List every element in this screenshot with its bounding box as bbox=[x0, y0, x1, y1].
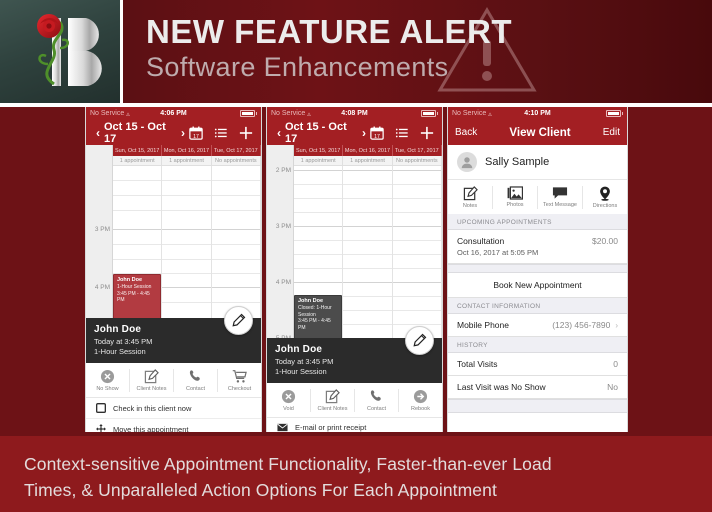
action-label: Rebook bbox=[411, 406, 430, 412]
photos-icon bbox=[507, 186, 523, 200]
client-actions: Notes Photos Text Message bbox=[448, 180, 627, 214]
hour-label: 3 PM bbox=[95, 226, 110, 233]
shopping-cart-icon bbox=[232, 369, 247, 384]
back-button[interactable]: Back bbox=[455, 127, 477, 138]
calendar-body[interactable]: 2 PM 3 PM 4 PM 5 PM bbox=[267, 166, 442, 338]
history-row: Total Visits 0 bbox=[448, 353, 627, 376]
appointment-name: John Doe bbox=[298, 298, 338, 305]
history-label: Total Visits bbox=[457, 359, 497, 369]
day-header: Sun, Oct 15, 2017 bbox=[294, 145, 343, 156]
appointment-price: $20.00 bbox=[592, 236, 618, 246]
upcoming-appointment-row[interactable]: Consultation Oct 16, 2017 at 5:05 PM $20… bbox=[448, 230, 627, 264]
phone-handset-icon bbox=[188, 369, 203, 384]
calendar-grid-2: Sun, Oct 15, 2017 Mon, Oct 16, 2017 Tue,… bbox=[267, 145, 442, 338]
calendar-column[interactable]: John Doe 1-Hour Session 3:45 PM - 4:45 P… bbox=[113, 166, 162, 318]
section-history: HISTORY bbox=[448, 337, 627, 353]
day-header: Mon, Oct 16, 2017 bbox=[343, 145, 392, 156]
appointment-name: John Doe bbox=[117, 277, 157, 284]
rose-b-logo-icon bbox=[24, 6, 116, 98]
hour-label: 3 PM bbox=[276, 223, 291, 230]
no-show-x-circle-icon bbox=[100, 369, 115, 384]
section-spacer bbox=[448, 264, 627, 273]
appointment-time: 3:45 PM - 4:45 PM bbox=[298, 318, 338, 331]
day-header: Tue, Oct 17, 2017 bbox=[393, 145, 442, 156]
calendar-day-headers: Sun, Oct 15, 2017 Mon, Oct 16, 2017 Tue,… bbox=[86, 145, 261, 156]
detail-session: 1-Hour Session bbox=[94, 347, 253, 356]
svg-text:17: 17 bbox=[374, 133, 380, 139]
list-icon[interactable] bbox=[214, 126, 228, 140]
action-label: Contact bbox=[367, 406, 386, 412]
hour-gutter: 2 PM 3 PM 4 PM 5 PM bbox=[267, 166, 294, 338]
svg-text:17: 17 bbox=[193, 133, 199, 139]
plus-icon[interactable] bbox=[420, 126, 434, 140]
action-client-notes[interactable]: Client Notes bbox=[130, 369, 174, 392]
edit-appointment-button[interactable] bbox=[405, 326, 434, 355]
map-pin-icon bbox=[598, 186, 612, 201]
calendar-day-headers: Sun, Oct 15, 2017 Mon, Oct 16, 2017 Tue,… bbox=[267, 145, 442, 156]
action-label: Void bbox=[283, 406, 294, 412]
calendar-icon[interactable]: 17 bbox=[189, 126, 203, 140]
pencil-edit-icon bbox=[231, 313, 246, 328]
calendar-day-counts: 1 appointment 1 appointment No appointme… bbox=[86, 156, 261, 166]
action-text-message[interactable]: Text Message bbox=[538, 186, 583, 209]
action-no-show[interactable]: No Show bbox=[86, 369, 130, 392]
next-week-icon[interactable]: › bbox=[177, 126, 189, 140]
client-notes-icon bbox=[144, 369, 159, 384]
header-text-block: NEW FEATURE ALERT Software Enhancements bbox=[146, 13, 512, 84]
prev-week-icon[interactable]: ‹ bbox=[92, 126, 104, 140]
envelope-icon bbox=[277, 423, 288, 432]
detail-when: Today at 3:45 PM bbox=[94, 337, 253, 346]
status-bar-1: No Service ▵ 4:06 PM bbox=[86, 107, 261, 120]
option-check-in[interactable]: Check in this client now bbox=[86, 398, 261, 419]
action-label: Client Notes bbox=[318, 406, 348, 412]
appointment-datetime: Oct 16, 2017 at 5:05 PM bbox=[457, 248, 538, 257]
edit-appointment-button[interactable] bbox=[224, 306, 253, 335]
appointment-title: Consultation bbox=[457, 236, 538, 246]
day-header: Mon, Oct 16, 2017 bbox=[162, 145, 211, 156]
footer-line-2: Times, & Unparalleled Action Options For… bbox=[24, 477, 688, 503]
client-name: Sally Sample bbox=[485, 156, 549, 168]
status-bar-2: No Service ▵ 4:08 PM bbox=[267, 107, 442, 120]
history-value: 0 bbox=[613, 359, 618, 369]
detail-when: Today at 3:45 PM bbox=[275, 357, 434, 366]
page-title: View Client bbox=[509, 127, 570, 139]
next-week-icon[interactable]: › bbox=[358, 126, 370, 140]
rebook-arrow-icon bbox=[413, 389, 428, 404]
hour-label: 4 PM bbox=[276, 279, 291, 286]
section-spacer bbox=[448, 399, 627, 413]
calendar-navbar-1: ‹ Oct 15 - Oct 17 › 17 bbox=[86, 120, 261, 145]
header-subtitle: Software Enhancements bbox=[146, 51, 512, 84]
calendar-column[interactable] bbox=[212, 166, 261, 318]
battery-icon bbox=[421, 110, 438, 117]
screenshots-stage: No Service ▵ 4:06 PM ‹ Oct 15 - Oct 17 › bbox=[0, 107, 712, 432]
action-label: Photos bbox=[506, 202, 523, 208]
section-contact-information: CONTACT INFORMATION bbox=[448, 298, 627, 314]
appointment-time: 3:45 PM - 4:45 PM bbox=[117, 291, 157, 304]
footer-divider bbox=[0, 432, 712, 436]
options-list-1: Check in this client now Move this appoi… bbox=[86, 397, 261, 432]
day-header: Sun, Oct 15, 2017 bbox=[113, 145, 162, 156]
void-x-circle-icon bbox=[281, 389, 296, 404]
appointment-detail-header-2: John Doe Today at 3:45 PM 1-Hour Session bbox=[267, 338, 442, 383]
hour-label: 2 PM bbox=[276, 167, 291, 174]
hour-label: 4 PM bbox=[95, 284, 110, 291]
phone-screenshot-2: No Service ▵ 4:08 PM ‹ Oct 15 - Oct 17 › bbox=[266, 107, 443, 432]
footer-line-1: Context-sensitive Appointment Functional… bbox=[24, 451, 688, 477]
calendar-column[interactable] bbox=[343, 166, 392, 338]
action-contact[interactable]: Contact bbox=[355, 389, 399, 412]
day-count: 1 appointment bbox=[162, 156, 211, 166]
status-time: 4:08 PM bbox=[267, 110, 442, 117]
promo-graphic: NEW FEATURE ALERT Software Enhancements … bbox=[0, 0, 712, 512]
action-label: No Show bbox=[96, 386, 118, 392]
contact-label: Mobile Phone bbox=[457, 320, 509, 330]
option-email-receipt[interactable]: E-mail or print receipt bbox=[267, 418, 442, 432]
status-time: 4:06 PM bbox=[86, 110, 261, 117]
client-notes-icon bbox=[325, 389, 340, 404]
avatar bbox=[457, 152, 477, 172]
quick-actions-2: Void Client Notes Contact bbox=[267, 383, 442, 417]
phone-screenshot-1: No Service ▵ 4:06 PM ‹ Oct 15 - Oct 17 › bbox=[85, 107, 262, 432]
status-bar-3: No Service ▵ 4:10 PM bbox=[448, 107, 627, 120]
action-label: Contact bbox=[186, 386, 205, 392]
calendar-column[interactable]: John Doe Closed: 1-Hour Session 3:45 PM … bbox=[294, 166, 343, 338]
option-label: E-mail or print receipt bbox=[295, 423, 366, 432]
appointment-detail-header-1: John Doe Today at 3:45 PM 1-Hour Session bbox=[86, 318, 261, 363]
action-label: Notes bbox=[463, 203, 477, 209]
action-rebook[interactable]: Rebook bbox=[399, 389, 442, 412]
client-header[interactable]: Sally Sample bbox=[448, 145, 627, 180]
action-label: Checkout bbox=[228, 386, 251, 392]
checkbox-icon bbox=[96, 403, 106, 413]
option-label: Move this appointment bbox=[113, 425, 188, 433]
action-contact[interactable]: Contact bbox=[174, 369, 218, 392]
day-count: 1 appointment bbox=[113, 156, 162, 166]
action-label: Text Message bbox=[543, 202, 577, 208]
header-title: NEW FEATURE ALERT bbox=[146, 13, 512, 51]
person-avatar-icon bbox=[460, 155, 474, 169]
day-count: No appointments bbox=[212, 156, 261, 166]
date-range-label[interactable]: Oct 15 - Oct 17 bbox=[285, 121, 358, 145]
hour-gutter: 3 PM 4 PM bbox=[86, 166, 113, 318]
option-move-appointment[interactable]: Move this appointment bbox=[86, 419, 261, 432]
action-void[interactable]: Void bbox=[267, 389, 311, 412]
action-checkout[interactable]: Checkout bbox=[218, 369, 261, 392]
move-arrows-icon bbox=[96, 424, 106, 432]
action-directions[interactable]: Directions bbox=[583, 186, 627, 209]
speech-bubble-icon bbox=[552, 186, 568, 200]
history-label: Last Visit was No Show bbox=[457, 382, 546, 392]
quick-actions-1: No Show Client Notes Contact bbox=[86, 363, 261, 397]
options-list-2: E-mail or print receipt Double book at 3… bbox=[267, 417, 442, 432]
edit-button[interactable]: Edit bbox=[603, 127, 620, 138]
phone-screenshot-3: No Service ▵ 4:10 PM Back View Client Ed… bbox=[447, 107, 628, 432]
calendar-column[interactable] bbox=[162, 166, 211, 318]
day-count: 1 appointment bbox=[294, 156, 343, 166]
history-row: Last Visit was No Show No bbox=[448, 376, 627, 399]
calendar-icon[interactable]: 17 bbox=[370, 126, 384, 140]
book-new-appointment-button[interactable]: Book New Appointment bbox=[448, 273, 627, 298]
logo-panel bbox=[0, 0, 123, 103]
day-header: Tue, Oct 17, 2017 bbox=[212, 145, 261, 156]
action-notes[interactable]: Notes bbox=[448, 186, 493, 209]
appointment-session: Closed: 1-Hour Session bbox=[298, 305, 338, 318]
calendar-day-counts: 1 appointment 1 appointment No appointme… bbox=[267, 156, 442, 166]
day-count: 1 appointment bbox=[343, 156, 392, 166]
calendar-navbar-2: ‹ Oct 15 - Oct 17 › 17 bbox=[267, 120, 442, 145]
status-time: 4:10 PM bbox=[448, 110, 627, 117]
action-photos[interactable]: Photos bbox=[493, 186, 538, 209]
client-navbar: Back View Client Edit bbox=[448, 120, 627, 145]
option-label: Check in this client now bbox=[113, 404, 191, 413]
date-range-label[interactable]: Oct 15 - Oct 17 bbox=[104, 121, 177, 145]
section-upcoming-appointments: UPCOMING APPOINTMENTS bbox=[448, 214, 627, 230]
action-label: Directions bbox=[593, 203, 617, 209]
detail-session: 1-Hour Session bbox=[275, 367, 434, 376]
phone-handset-icon bbox=[369, 389, 384, 404]
pencil-edit-icon bbox=[412, 333, 427, 348]
prev-week-icon[interactable]: ‹ bbox=[273, 126, 285, 140]
footer-caption: Context-sensitive Appointment Functional… bbox=[0, 432, 712, 512]
action-label: Client Notes bbox=[137, 386, 167, 392]
contact-value: (123) 456-7890 bbox=[552, 320, 610, 330]
calendar-grid-1: Sun, Oct 15, 2017 Mon, Oct 16, 2017 Tue,… bbox=[86, 145, 261, 318]
chevron-right-icon: › bbox=[615, 321, 618, 330]
calendar-body[interactable]: 3 PM 4 PM John Doe 1-Hour Sessi bbox=[86, 166, 261, 318]
mobile-phone-row[interactable]: Mobile Phone (123) 456-7890 › bbox=[448, 314, 627, 337]
history-value: No bbox=[607, 382, 618, 392]
battery-icon bbox=[606, 110, 623, 117]
list-icon[interactable] bbox=[395, 126, 409, 140]
calendar-column[interactable] bbox=[393, 166, 442, 338]
notes-pencil-icon bbox=[463, 186, 478, 201]
footer-text: Context-sensitive Appointment Functional… bbox=[0, 432, 712, 503]
day-count: No appointments bbox=[393, 156, 442, 166]
action-client-notes[interactable]: Client Notes bbox=[311, 389, 355, 412]
header-banner: NEW FEATURE ALERT Software Enhancements bbox=[0, 0, 712, 107]
plus-icon[interactable] bbox=[239, 126, 253, 140]
battery-icon bbox=[240, 110, 257, 117]
